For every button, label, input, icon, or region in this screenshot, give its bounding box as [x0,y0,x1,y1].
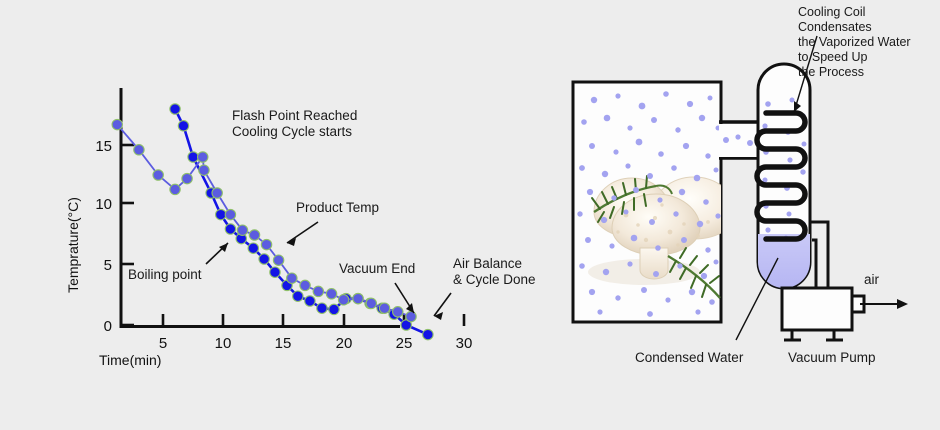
vacuum-pump-label: Vacuum Pump [788,350,876,365]
x-tick-label-25: 25 [396,335,413,352]
data-point [225,209,235,219]
data-point [287,273,297,283]
series-boiling-point [170,104,433,340]
series-product-temp [112,119,416,321]
air-label: air [864,272,880,287]
series-line [117,125,411,317]
screenshot-root: 0 5 10 15 5 10 15 20 25 30 Time(min) Tem… [0,0,940,430]
y-tick-label-0: 0 [104,318,112,335]
data-point [212,188,222,198]
annotation-boiling-point: Boiling point [128,267,202,282]
series-line [175,109,428,335]
data-point [153,170,163,180]
data-point [329,304,339,314]
data-point [305,296,315,306]
data-point [198,152,208,162]
condensed-water-leader-line [736,258,778,340]
data-point [249,230,259,240]
data-point [293,291,303,301]
data-point [406,311,416,321]
data-point [300,280,310,290]
y-tick-label-10: 10 [95,196,112,213]
data-point [423,329,433,339]
data-point [237,225,247,235]
cooling-coil-label-line5: the Process [798,65,864,79]
y-tick-label-5: 5 [104,257,112,274]
x-tick-label-10: 10 [215,335,232,352]
annotation-product-temp: Product Temp [296,200,379,215]
condenser-tube [756,64,812,294]
drying-chamber [573,82,736,322]
cooling-coil-label-line3: the Vaporized Water [798,35,911,49]
condenser-to-pump-pipe [810,222,828,290]
data-point [248,243,258,253]
cooling-coil-label-line4: to Speed Up [798,50,868,64]
pipe-inner [812,240,816,290]
data-point [199,165,209,175]
data-point [259,254,269,264]
data-point [188,152,198,162]
x-tick-label-15: 15 [275,335,292,352]
annotation-flash-point-line1: Flash Point Reached [232,108,357,123]
pipe-outer [810,222,828,290]
data-point [134,145,144,155]
data-point [313,286,323,296]
data-point [261,239,271,249]
diagram-svg: air Cooling Coil Condensates the Vaporiz… [560,0,940,430]
annotation-flash-point-line2: Cooling Cycle starts [232,124,352,139]
x-axis-title: Time(min) [99,352,161,368]
data-point [216,209,226,219]
pump-body [782,288,852,330]
y-tick-label-15: 15 [95,138,112,155]
air-arrow-head [897,299,908,309]
annotation-air-balance-line1: Air Balance [453,256,522,271]
data-point [326,289,336,299]
x-tick-label-20: 20 [336,335,353,352]
data-point [170,184,180,194]
cooling-coil-label-line1: Cooling Coil [798,5,865,19]
data-point [182,173,192,183]
y-axis-title: Temprature(°C) [65,197,81,293]
annotation-vacuum-end: Vacuum End [339,261,415,276]
data-point [366,298,376,308]
data-point [379,303,389,313]
freeze-dryer-diagram-panel: air Cooling Coil Condensates the Vaporiz… [560,0,940,430]
x-tick-label-5: 5 [159,335,167,352]
data-point [317,303,327,313]
data-point [170,104,180,114]
data-point [178,121,188,131]
chart-series-layer [112,104,433,340]
data-point [273,255,283,265]
data-point [353,293,363,303]
x-tick-label-30: 30 [456,335,473,352]
data-point [338,295,348,305]
annotation-air-balance-line2: & Cycle Done [453,272,536,287]
data-point [393,307,403,317]
data-point [225,224,235,234]
data-point [270,267,280,277]
chart-svg: 0 5 10 15 5 10 15 20 25 30 Time(min) Tem… [0,0,560,430]
cooling-coil-label-line2: Condensates [798,20,872,34]
condensed-water-label: Condensed Water [635,350,744,365]
annotation-product-temp-arrow-line [287,222,318,243]
mushroom-cap-front [612,194,700,255]
temperature-chart-panel: 0 5 10 15 5 10 15 20 25 30 Time(min) Tem… [0,0,560,430]
data-point [112,119,122,129]
